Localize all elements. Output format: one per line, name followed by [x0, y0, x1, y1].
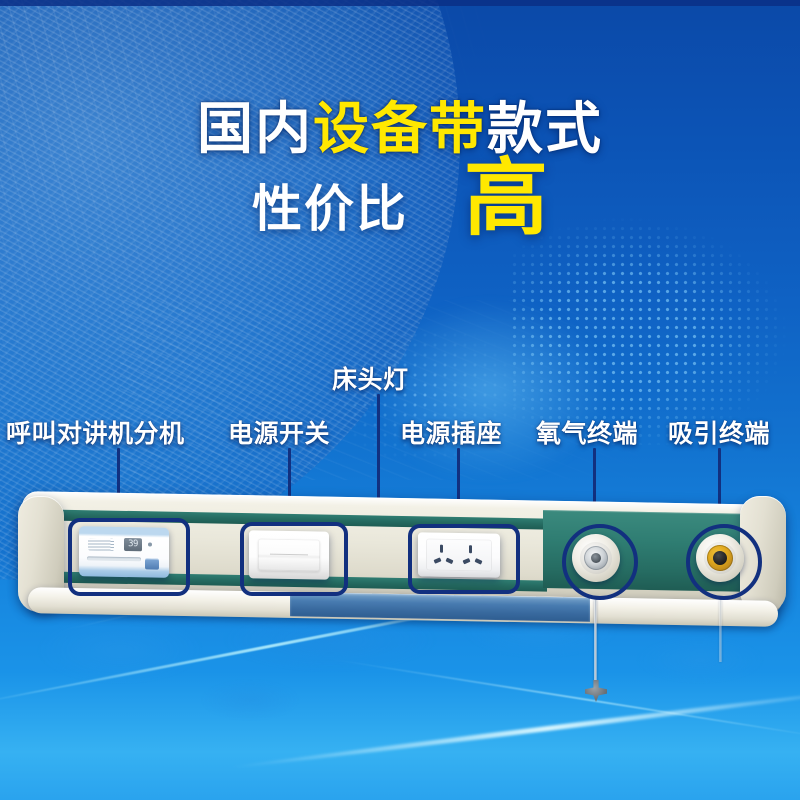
socket-pin-hole	[462, 558, 470, 564]
intercom-call-button[interactable]	[145, 558, 159, 569]
callout-power-switch-label: 电源开关	[228, 414, 330, 450]
oxygen-terminal-port[interactable]	[591, 553, 601, 563]
oxygen-terminal-device[interactable]	[572, 534, 620, 583]
callout-oxygen-terminal: 氧气终端	[536, 414, 638, 450]
power-socket-device[interactable]	[418, 532, 500, 578]
socket-pin-hole	[445, 558, 453, 565]
suction-hose	[719, 600, 722, 662]
callout-bed-lamp-label: 床头灯	[332, 360, 409, 396]
intercom-indicator-led	[148, 542, 152, 546]
power-switch-device[interactable]	[249, 530, 329, 579]
promo-banner: 国内设备带款式 性价比 高 呼叫对讲机分机 电源开关 床头灯 电源插座 氧气终端…	[0, 0, 800, 800]
nurse-call-intercom-device[interactable]: 39	[79, 526, 169, 578]
suction-terminal-port[interactable]	[713, 551, 727, 565]
intercom-card-slot	[87, 556, 141, 561]
socket-pin-hole	[433, 557, 441, 563]
power-switch-rocker[interactable]	[258, 538, 320, 571]
socket-pin-hole	[440, 545, 443, 553]
callout-bed-lamp: 床头灯	[332, 360, 409, 396]
callout-power-socket: 电源插座	[400, 414, 502, 450]
callout-suction-terminal: 吸引终端	[668, 414, 770, 450]
suction-terminal-device[interactable]	[696, 534, 744, 583]
callout-power-socket-label: 电源插座	[400, 414, 502, 450]
socket-pin-hole	[469, 545, 472, 553]
oxygen-hose	[594, 600, 597, 692]
callout-intercom-label: 呼叫对讲机分机	[6, 414, 185, 450]
intercom-display: 39	[124, 538, 142, 551]
power-socket-faceplate	[426, 538, 492, 571]
callout-suction-terminal-label: 吸引终端	[668, 414, 770, 450]
socket-pin-hole	[474, 558, 482, 565]
power-switch-seam	[270, 554, 308, 556]
intercom-speaker-grille-icon	[88, 538, 114, 550]
callout-power-switch: 电源开关	[228, 414, 330, 450]
callout-layer: 呼叫对讲机分机 电源开关 床头灯 电源插座 氧气终端 吸引终端	[0, 0, 800, 800]
callout-intercom: 呼叫对讲机分机	[6, 414, 185, 450]
callout-oxygen-terminal-label: 氧气终端	[536, 414, 638, 450]
